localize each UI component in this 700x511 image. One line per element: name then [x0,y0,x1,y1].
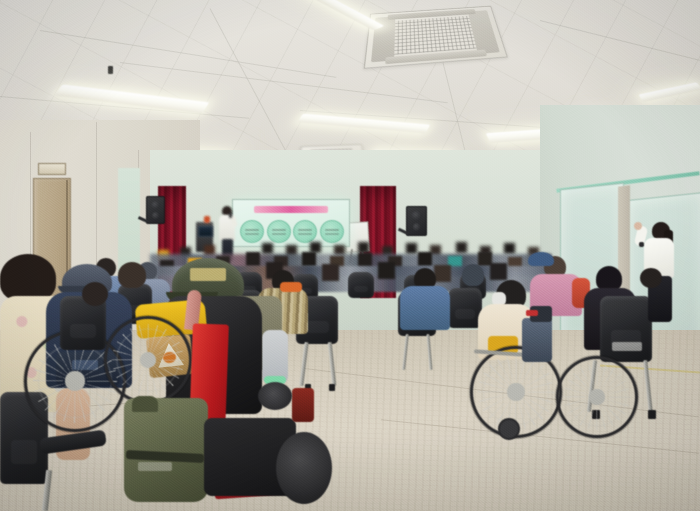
slide-bubble [240,220,264,243]
chair-foot [648,410,656,419]
backpack-logo [138,462,172,471]
wheelchair-rear-wheel [104,316,192,404]
audience-head [246,252,260,266]
wheelchair-caster [498,418,520,440]
ceiling-sensor-icon [108,66,113,74]
wheelchair-pannier-bag [522,318,552,362]
photo-scene: Seminar room presentation with wheelchai… [0,0,700,511]
audience-head [462,264,484,286]
audience-head [302,252,316,266]
scooter-motor [258,382,292,410]
chair-back [348,272,374,298]
audience-head [358,242,369,253]
wristwatch [639,242,644,247]
floral-blouse-woman-head [0,254,56,302]
chair-label [612,342,642,351]
cart-item [204,216,210,223]
slide-bubble [293,220,317,243]
projection-screen [232,199,350,247]
slide-bubble [267,220,291,243]
confidence-monitor [198,226,213,237]
audience-head [322,264,339,281]
audience-collar-orange [280,282,302,292]
audience-torso-blue [400,286,450,330]
door-placard [38,163,66,175]
backpack-top-handle [132,396,158,412]
audience-head [490,263,507,280]
audience-head [504,243,515,254]
scooter-frame [292,388,314,422]
chair-back [448,288,482,328]
audience-head [418,252,432,266]
audience-head [378,262,395,279]
wheelchair-rear-wheel [556,356,638,438]
wall-speaker-left [146,196,165,224]
audience-head [358,253,372,267]
scooter-tire [276,432,332,504]
slide-title-banner [254,206,328,213]
audience-head [118,262,146,288]
audience-head [434,265,451,282]
microphone [229,212,232,218]
audience-head [406,243,417,254]
audience-head [82,282,108,306]
slide-bubble [320,220,344,243]
standing-staff-hand [634,222,642,230]
ntc-cap-logo [190,268,226,281]
audience-head [262,243,273,254]
audience-head [640,268,662,288]
wall-speaker-right [406,206,427,236]
bag-logo [526,310,538,316]
blue-cap [528,252,554,266]
chair-back [600,296,652,362]
audience-head [456,242,467,253]
chair-foot [329,384,335,391]
